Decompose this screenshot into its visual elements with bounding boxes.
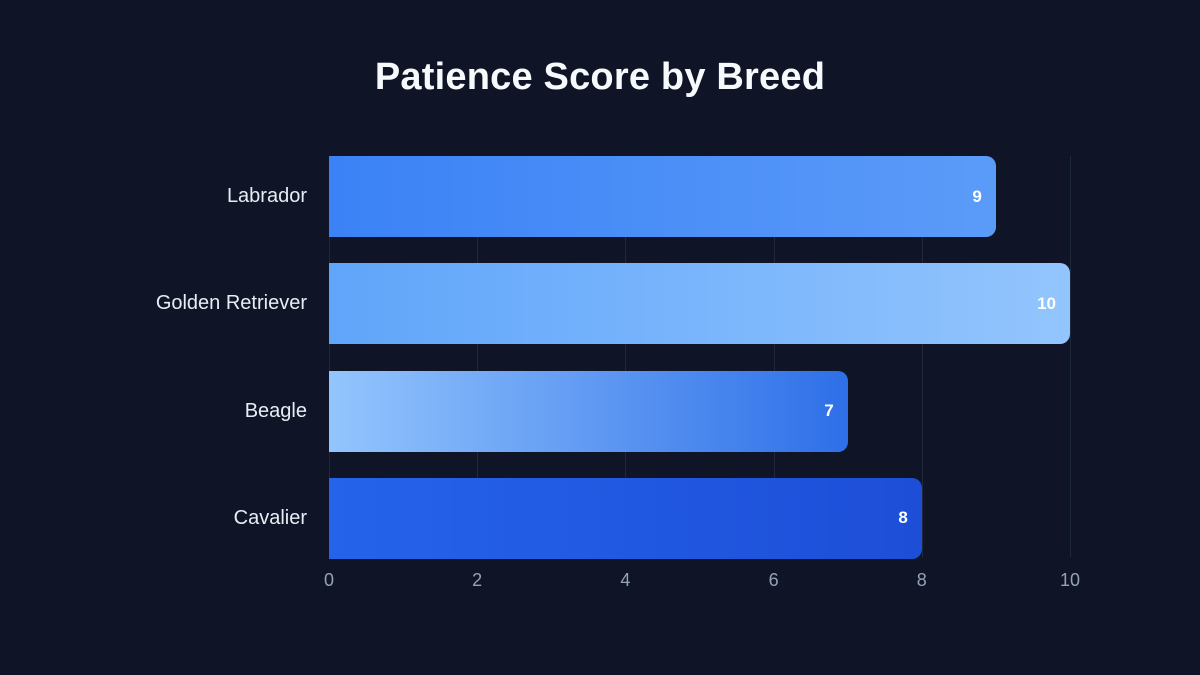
x-tick-label-2: 2 bbox=[472, 570, 482, 591]
x-tick-label-10: 10 bbox=[1060, 570, 1080, 591]
bar-row: 8 bbox=[329, 478, 1070, 559]
y-axis-label-labrador: Labrador bbox=[0, 156, 307, 237]
x-tick-label-6: 6 bbox=[769, 570, 779, 591]
bar-golden-retriever[interactable]: 10 bbox=[329, 263, 1070, 344]
bar-row: 10 bbox=[329, 263, 1070, 344]
chart-title: Patience Score by Breed bbox=[0, 56, 1200, 99]
y-axis-label-cavalier: Cavalier bbox=[0, 478, 307, 559]
y-axis-label-golden-retriever: Golden Retriever bbox=[0, 263, 307, 344]
bar-chart: Patience Score by Breed LabradorGolden R… bbox=[0, 0, 1200, 675]
x-axis-tick-labels: 0246810 bbox=[329, 570, 1070, 600]
y-axis-category-labels: LabradorGolden RetrieverBeagleCavalier bbox=[0, 156, 307, 557]
bar-row: 7 bbox=[329, 371, 1070, 452]
x-tick-label-8: 8 bbox=[917, 570, 927, 591]
bar-value-label: 8 bbox=[898, 508, 907, 528]
plot-area: 91078 bbox=[329, 156, 1070, 557]
x-tick-label-4: 4 bbox=[620, 570, 630, 591]
gridline-x-10 bbox=[1070, 156, 1071, 557]
y-axis-label-beagle: Beagle bbox=[0, 371, 307, 452]
bar-cavalier[interactable]: 8 bbox=[329, 478, 922, 559]
bar-labrador[interactable]: 9 bbox=[329, 156, 996, 237]
bar-value-label: 7 bbox=[824, 401, 833, 421]
bar-value-label: 10 bbox=[1037, 294, 1056, 314]
bar-row: 9 bbox=[329, 156, 1070, 237]
bar-beagle[interactable]: 7 bbox=[329, 371, 848, 452]
x-tick-label-0: 0 bbox=[324, 570, 334, 591]
bar-value-label: 9 bbox=[972, 187, 981, 207]
